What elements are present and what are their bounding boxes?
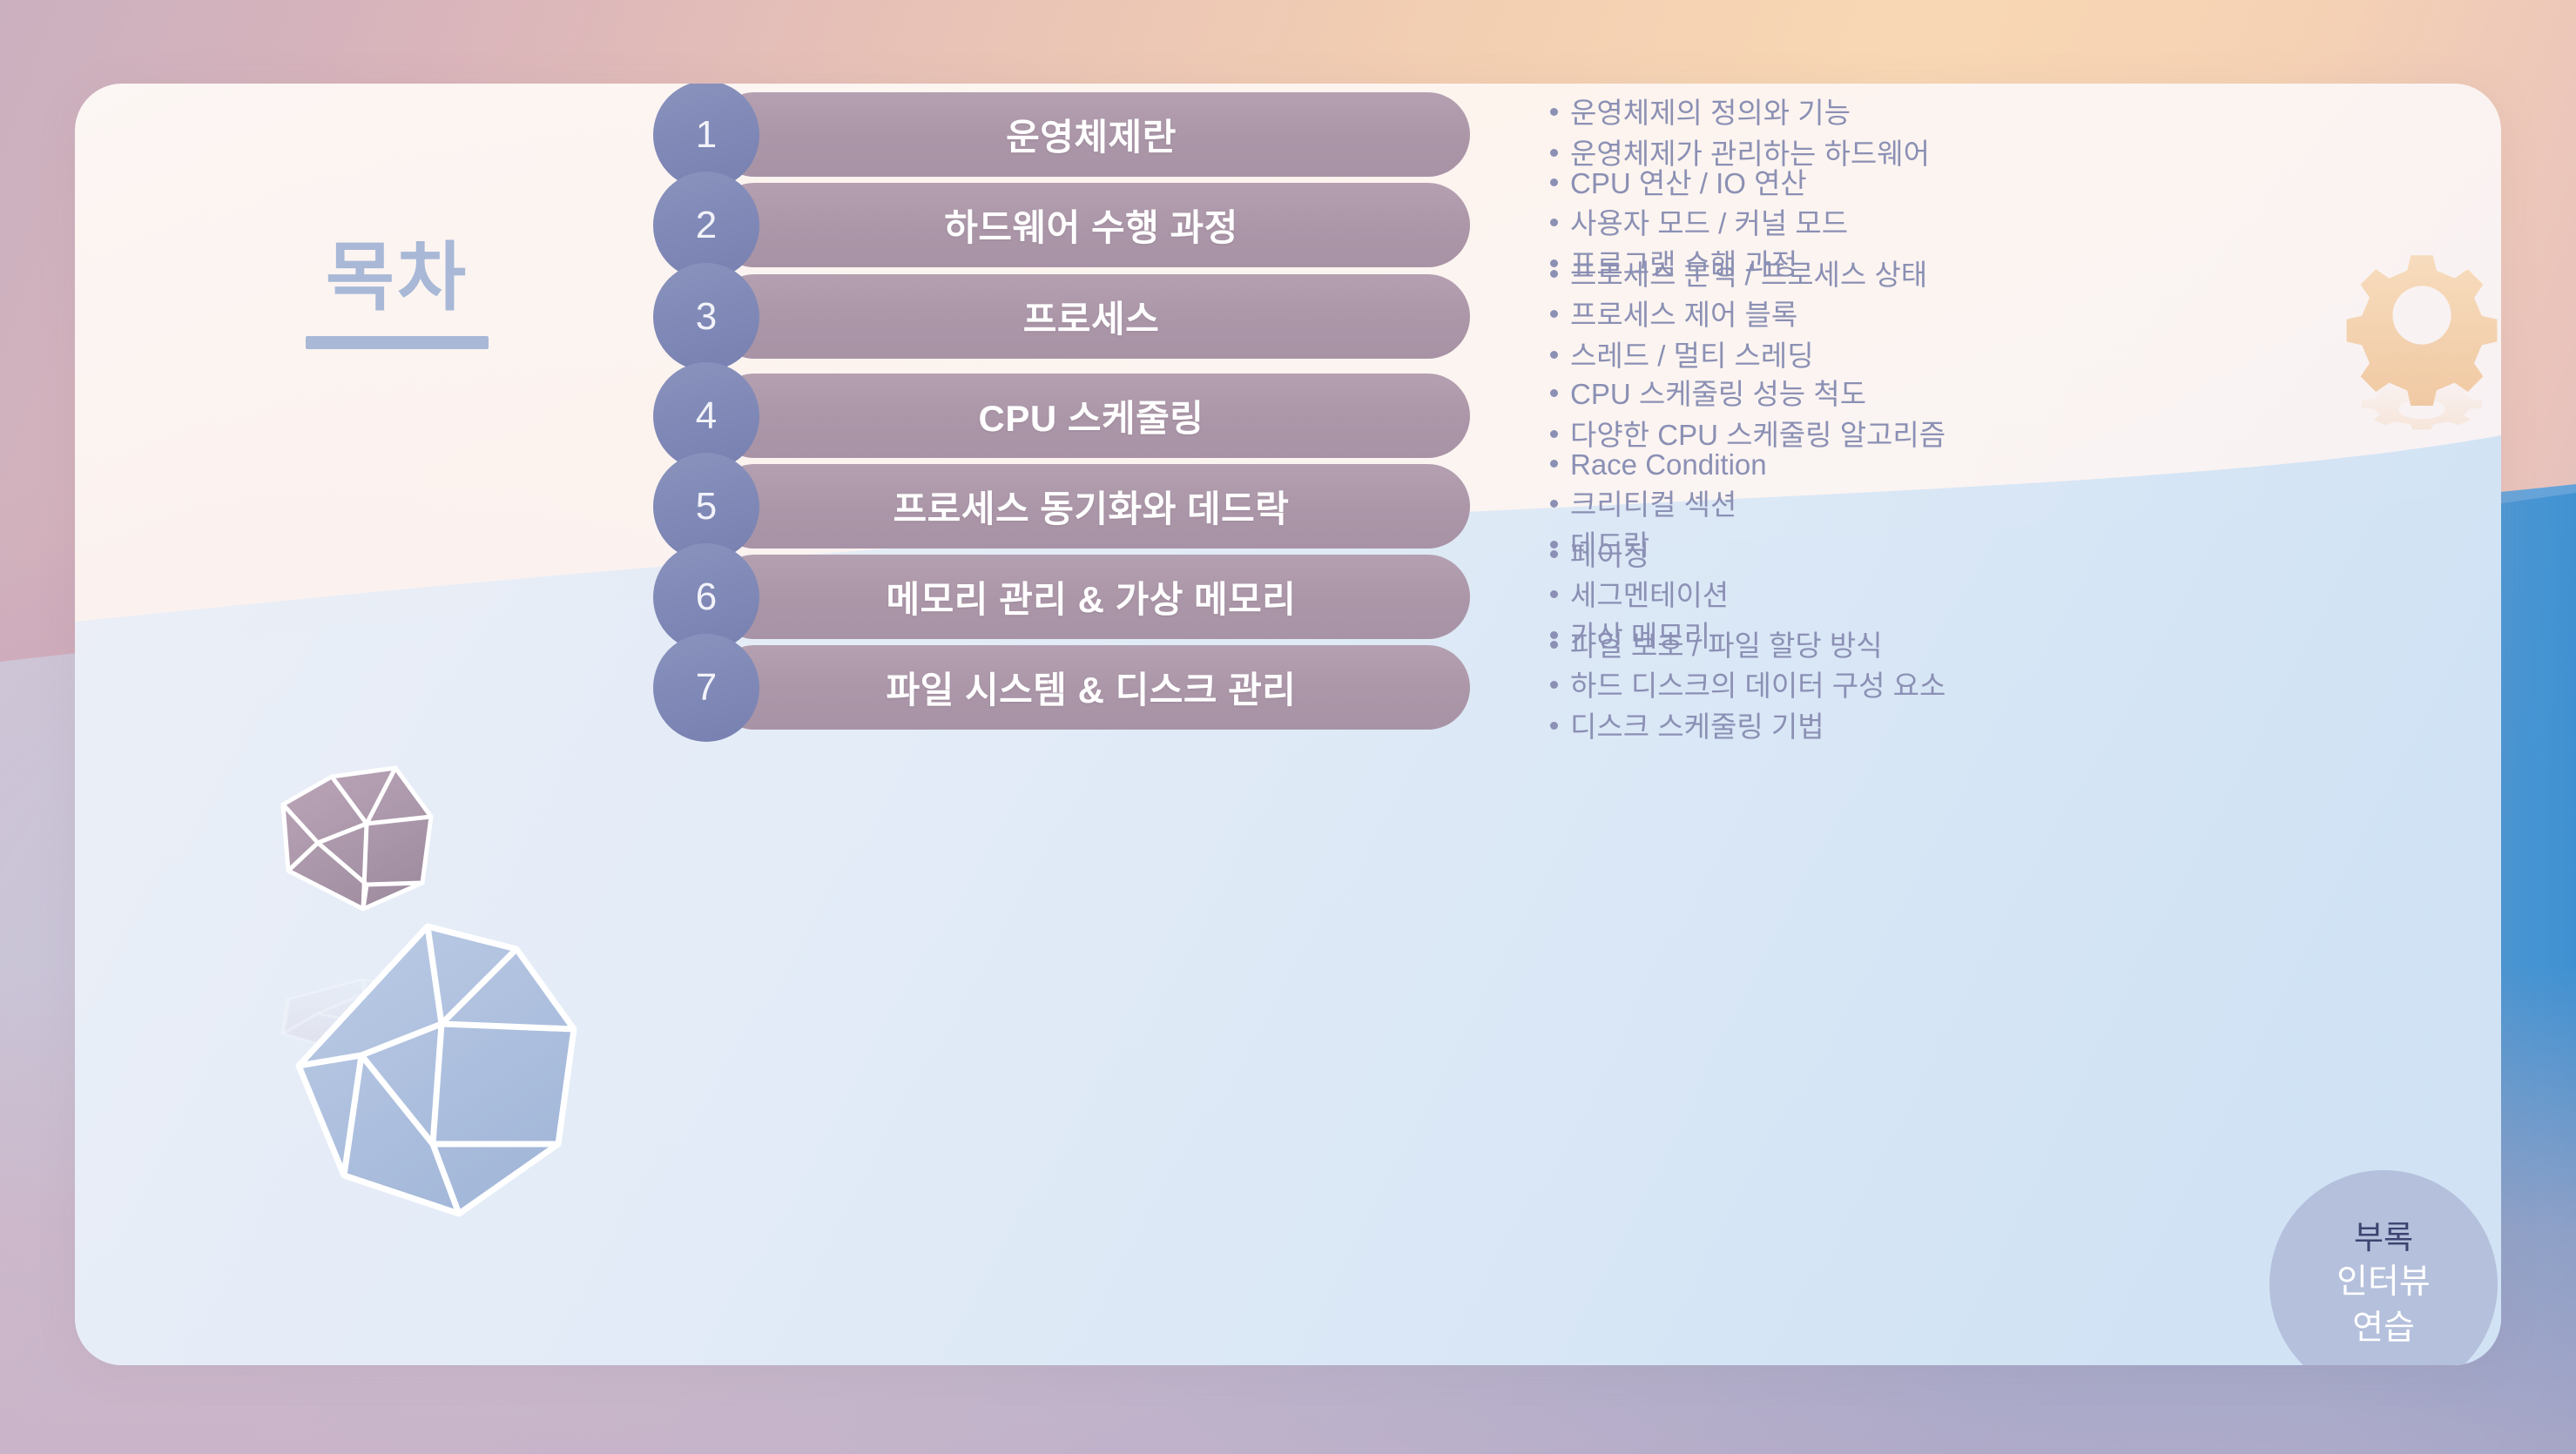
bullet-dot-icon — [1550, 430, 1558, 438]
bullet-text: 하드 디스크의 데이터 구성 요소 — [1570, 666, 1945, 707]
bullet-text: 디스크 스케줄링 기법 — [1570, 707, 1824, 748]
bullet-dot-icon — [1550, 641, 1558, 649]
toc-row-pill[interactable]: 메모리 관리 & 가상 메모리 — [712, 555, 1470, 639]
toc-row-pill-group[interactable]: 프로세스 동기화와 데드락5 — [653, 464, 1472, 551]
toc-bullet-item: 파일 보호 / 파일 할당 방식 — [1550, 626, 2421, 667]
toc-bullet-item: 운영체제의 정의와 기능 — [1550, 93, 2421, 134]
bullet-text: 파일 보호 / 파일 할당 방식 — [1570, 626, 1883, 667]
bullet-text: CPU 스케줄링 성능 척도 — [1570, 374, 1866, 415]
toc-bullet-item: 프로세스 문맥 / 프로세스 상태 — [1550, 255, 2421, 296]
toc-row-title: 파일 시스템 & 디스크 관리 — [887, 661, 1297, 714]
bullet-text: Race Condition — [1570, 445, 1767, 486]
toc-row-title: 운영체제란 — [1006, 108, 1177, 161]
toc-bullet-item: 세그멘테이션 — [1550, 576, 2421, 616]
bullet-dot-icon — [1550, 270, 1558, 278]
toc-list: 운영체제란1운영체제의 정의와 기능운영체제가 관리하는 하드웨어하드웨어 수행… — [75, 84, 2501, 1365]
toc-row-title: 메모리 관리 & 가상 메모리 — [887, 570, 1297, 623]
slide-canvas: 목차 — [0, 0, 2576, 1454]
toc-row-bullets: 프로세스 문맥 / 프로세스 상태프로세스 제어 블록스레드 / 멀티 스레딩 — [1550, 255, 2421, 378]
toc-row-pill[interactable]: 프로세스 — [712, 274, 1470, 359]
bullet-text: 프로세스 제어 블록 — [1570, 295, 1797, 336]
toc-row-pill[interactable]: 하드웨어 수행 과정 — [712, 183, 1470, 267]
toc-row-bullets: 파일 보호 / 파일 할당 방식하드 디스크의 데이터 구성 요소디스크 스케줄… — [1550, 626, 2421, 749]
toc-bullet-item: CPU 스케줄링 성능 척도 — [1550, 374, 2421, 415]
toc-row-pill-group[interactable]: 하드웨어 수행 과정2 — [653, 183, 1472, 270]
bullet-dot-icon — [1550, 108, 1558, 116]
toc-row-number: 3 — [653, 263, 759, 371]
bullet-dot-icon — [1550, 500, 1558, 508]
toc-row-pill[interactable]: 운영체제란 — [712, 92, 1470, 177]
toc-row-title: CPU 스케줄링 — [979, 389, 1204, 442]
toc-bullet-item: 디스크 스케줄링 기법 — [1550, 707, 2421, 748]
toc-bullet-item: 크리티컬 섹션 — [1550, 485, 2421, 526]
toc-bullet-item: 스레드 / 멀티 스레딩 — [1550, 336, 2421, 377]
bullet-text: 스레드 / 멀티 스레딩 — [1570, 336, 1814, 377]
bullet-dot-icon — [1550, 681, 1558, 689]
bullet-text: 페이징 — [1570, 535, 1649, 576]
bullet-dot-icon — [1550, 351, 1558, 359]
bullet-text: 운영체제의 정의와 기능 — [1570, 93, 1851, 134]
bullet-text: 크리티컬 섹션 — [1570, 485, 1736, 526]
toc-row-pill-group[interactable]: 메모리 관리 & 가상 메모리6 — [653, 555, 1472, 642]
toc-bullet-item: 사용자 모드 / 커널 모드 — [1550, 204, 2421, 245]
bullet-dot-icon — [1550, 550, 1558, 558]
toc-row-title: 프로세스 동기화와 데드락 — [894, 480, 1290, 533]
content-card: 목차 — [75, 84, 2501, 1365]
bullet-dot-icon — [1550, 460, 1558, 468]
toc-bullet-item: 페이징 — [1550, 535, 2421, 576]
toc-row-pill[interactable]: 파일 시스템 & 디스크 관리 — [712, 645, 1470, 730]
bullet-dot-icon — [1550, 178, 1558, 186]
toc-row-title: 프로세스 — [1023, 290, 1160, 343]
toc-row-pill[interactable]: CPU 스케줄링 — [712, 374, 1470, 458]
bullet-dot-icon — [1550, 310, 1558, 318]
toc-row-title: 하드웨어 수행 과정 — [944, 199, 1237, 252]
toc-row-pill-group[interactable]: 운영체제란1 — [653, 92, 1472, 179]
bullet-text: 프로세스 문맥 / 프로세스 상태 — [1570, 255, 1927, 296]
bullet-text: 세그멘테이션 — [1570, 576, 1729, 616]
bullet-dot-icon — [1550, 389, 1558, 397]
bullet-text: 사용자 모드 / 커널 모드 — [1570, 204, 1848, 245]
toc-row-pill-group[interactable]: CPU 스케줄링4 — [653, 374, 1472, 461]
toc-bullet-item: 하드 디스크의 데이터 구성 요소 — [1550, 666, 2421, 707]
bullet-dot-icon — [1550, 722, 1558, 730]
toc-row-pill-group[interactable]: 프로세스3 — [653, 274, 1472, 361]
toc-row-number: 7 — [653, 634, 759, 742]
bullet-dot-icon — [1550, 590, 1558, 598]
toc-bullet-item: 프로세스 제어 블록 — [1550, 295, 2421, 336]
toc-row-pill[interactable]: 프로세스 동기화와 데드락 — [712, 464, 1470, 549]
bullet-dot-icon — [1550, 219, 1558, 226]
bullet-text: CPU 연산 / IO 연산 — [1570, 164, 1807, 205]
toc-bullet-item: CPU 연산 / IO 연산 — [1550, 164, 2421, 205]
toc-row-pill-group[interactable]: 파일 시스템 & 디스크 관리7 — [653, 645, 1472, 732]
toc-bullet-item: Race Condition — [1550, 445, 2421, 486]
bullet-dot-icon — [1550, 149, 1558, 157]
toc-row[interactable]: 파일 시스템 & 디스크 관리7파일 보호 / 파일 할당 방식하드 디스크의 … — [653, 645, 2438, 767]
